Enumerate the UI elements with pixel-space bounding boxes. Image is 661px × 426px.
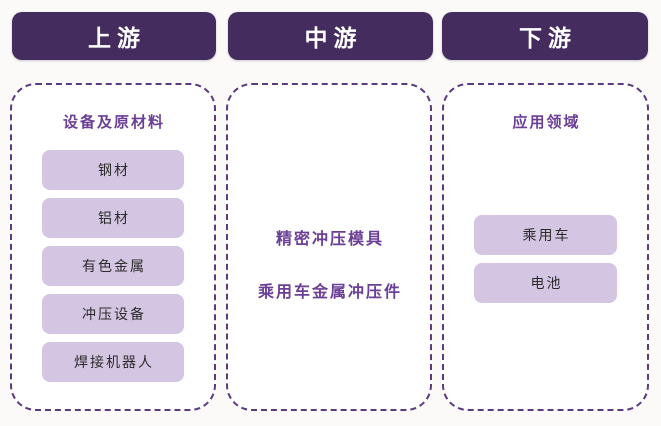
list-item: 乘用车	[474, 215, 617, 255]
list-item: 冲压设备	[42, 294, 184, 334]
panel-downstream: 应用领域 乘用车 电池	[442, 83, 649, 411]
industry-chain-diagram: 上游 中游 下游 设备及原材料 钢材 铝材 有色金属 冲压设备 焊接机器人 精密…	[0, 0, 661, 426]
stage-header-midstream: 中游	[228, 12, 433, 60]
list-item: 电池	[474, 263, 617, 303]
list-item: 铝材	[42, 198, 184, 238]
item-list-downstream: 乘用车 电池	[474, 215, 617, 303]
center-line: 精密冲压模具	[228, 225, 430, 249]
list-item: 有色金属	[42, 246, 184, 286]
list-item: 钢材	[42, 150, 184, 190]
stage-header-downstream: 下游	[442, 12, 648, 60]
item-list-upstream: 钢材 铝材 有色金属 冲压设备 焊接机器人	[42, 150, 184, 382]
panel-upstream: 设备及原材料 钢材 铝材 有色金属 冲压设备 焊接机器人	[10, 83, 216, 411]
stage-header-upstream: 上游	[12, 12, 216, 60]
center-line: 乘用车金属冲压件	[228, 278, 430, 302]
list-item: 焊接机器人	[42, 342, 184, 382]
panel-title-downstream: 应用领域	[444, 111, 647, 132]
panel-title-upstream: 设备及原材料	[12, 111, 214, 132]
center-text-midstream: 精密冲压模具 乘用车金属冲压件	[228, 225, 430, 302]
panel-midstream: 精密冲压模具 乘用车金属冲压件	[226, 83, 432, 411]
